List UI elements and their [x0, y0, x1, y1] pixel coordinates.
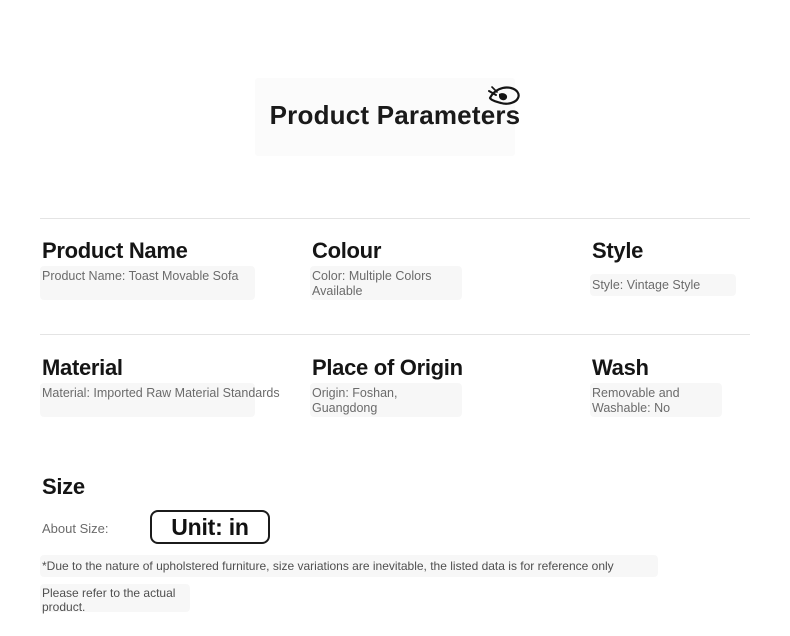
parameter-cell-material: Material Material: Imported Raw Material…	[42, 355, 307, 401]
parameter-description-wrap: Color: Multiple Colors Available	[312, 269, 582, 299]
product-parameters-page: Product Parameters Product Name Product …	[0, 0, 790, 636]
parameter-description: Color: Multiple Colors Available	[312, 269, 452, 299]
page-title: Product Parameters	[0, 100, 790, 131]
size-heading: Size	[42, 474, 742, 500]
parameter-description: Material: Imported Raw Material Standard…	[42, 386, 307, 401]
disclaimer-text-primary: *Due to the nature of upholstered furnit…	[42, 558, 742, 574]
parameter-description-wrap: Removable and Washable: No	[592, 386, 762, 416]
hand-pointer-cursor-icon	[487, 83, 521, 113]
parameter-cell-wash: Wash Removable and Washable: No	[592, 355, 762, 416]
size-section: Size About Size: Unit: in	[42, 474, 742, 548]
parameter-heading: Style	[592, 238, 762, 264]
unit-selector-chip[interactable]: Unit: in	[150, 510, 270, 544]
parameter-description: Removable and Washable: No	[592, 386, 704, 416]
parameter-heading: Colour	[312, 238, 582, 264]
divider-middle	[40, 334, 750, 335]
parameter-cell-colour: Colour Color: Multiple Colors Available	[312, 238, 582, 299]
parameter-description: Origin: Foshan, Guangdong	[312, 386, 422, 416]
parameter-heading: Wash	[592, 355, 762, 381]
divider-top	[40, 218, 750, 219]
parameter-description: Product Name: Toast Movable Sofa	[42, 269, 307, 284]
size-unit-row: About Size: Unit: in	[42, 510, 742, 548]
parameter-description: Style: Vintage Style	[592, 278, 762, 293]
unit-selector-value: Unit: in	[171, 516, 249, 539]
parameter-heading: Product Name	[42, 238, 307, 264]
parameter-description-wrap: Product Name: Toast Movable Sofa	[42, 269, 307, 284]
parameter-cell-place-of-origin: Place of Origin Origin: Foshan, Guangdon…	[312, 355, 582, 416]
parameter-cell-style: Style Style: Vintage Style	[592, 238, 762, 293]
about-size-label: About Size:	[42, 521, 109, 536]
parameter-heading: Material	[42, 355, 307, 381]
disclaimer-block: *Due to the nature of upholstered furnit…	[42, 558, 742, 614]
parameter-description-wrap: Origin: Foshan, Guangdong	[312, 386, 582, 416]
parameter-description-wrap: Style: Vintage Style	[592, 278, 762, 293]
parameter-description-wrap: Material: Imported Raw Material Standard…	[42, 386, 307, 401]
page-title-block: Product Parameters	[0, 78, 790, 156]
disclaimer-text-secondary: Please refer to the actual product.	[42, 586, 182, 614]
parameter-heading: Place of Origin	[312, 355, 582, 381]
parameter-cell-product-name: Product Name Product Name: Toast Movable…	[42, 238, 307, 284]
